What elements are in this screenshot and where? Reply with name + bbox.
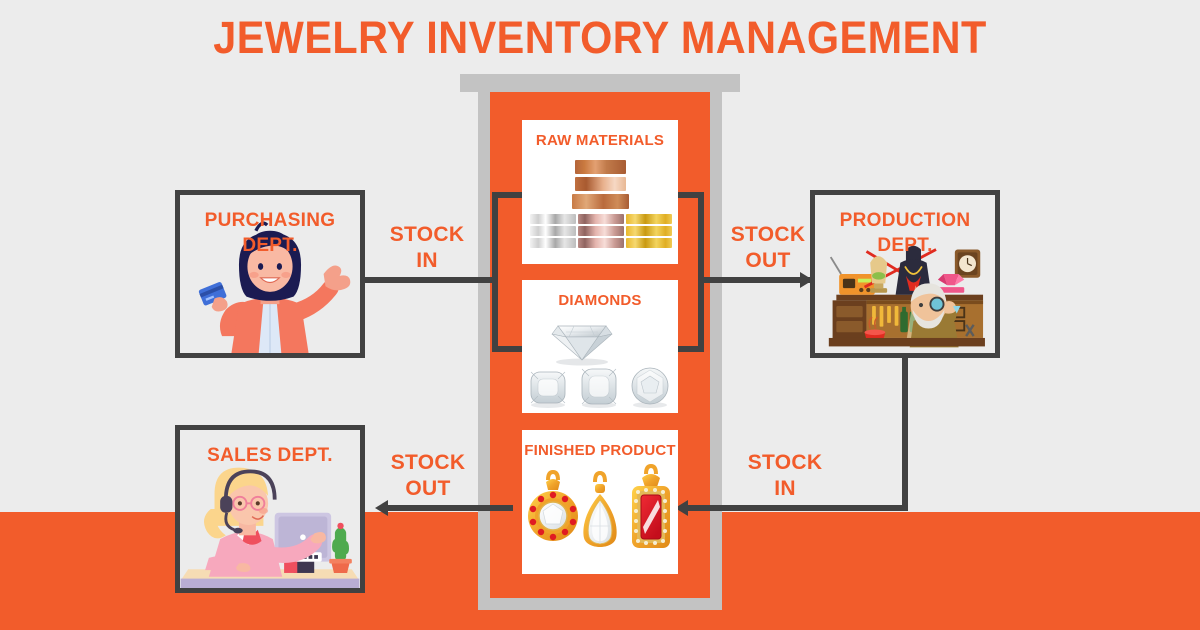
small-diamond-cushion-icon <box>531 372 565 408</box>
diamonds-svg <box>522 310 678 410</box>
cactus-icon <box>329 523 352 573</box>
pendant-teardrop-diamond-icon <box>583 473 616 547</box>
small-diamond-round-icon <box>632 368 668 408</box>
small-diamond-radiant-icon <box>582 369 616 408</box>
flow-label-line2: IN <box>774 477 796 500</box>
department-box-production[interactable]: PRODUCTION DEPT. <box>810 190 1000 358</box>
arrow-to-sales <box>375 500 388 516</box>
department-title-production: PRODUCTION DEPT. <box>815 208 995 258</box>
flow-label-stock-out-sales: STOCK OUT <box>368 450 488 502</box>
department-title-sales: SALES DEPT. <box>180 443 360 468</box>
inventory-card-finished-product[interactable]: FINISHED PRODUCT <box>522 430 678 574</box>
department-title-purchasing: PURCHASING DEPT. <box>180 208 360 258</box>
infographic-canvas: JEWELRY INVENTORY MANAGEMENT STOCK IN ST… <box>0 0 1200 630</box>
flow-label-line2: OUT <box>745 249 790 272</box>
pendant-round-ruby-icon <box>528 472 578 541</box>
radio-icon <box>831 257 875 295</box>
department-title-text: PRODUCTION DEPT. <box>840 210 971 256</box>
flow-label-line1: STOCK <box>390 223 465 246</box>
inventory-card-raw-materials[interactable]: RAW MATERIALS <box>522 120 678 264</box>
pendant-emerald-ruby-icon <box>632 466 670 548</box>
jewelers-loupe-icon <box>930 298 943 311</box>
flow-line-production-bus <box>698 192 704 352</box>
card-title-finished-product: FINISHED PRODUCT <box>524 441 676 460</box>
flow-line-production-return-horizontal <box>688 505 908 511</box>
warehouse-roof <box>460 74 740 92</box>
flow-label-stock-in-purchasing: STOCK IN <box>367 222 487 274</box>
flow-label-line1: STOCK <box>731 223 806 246</box>
department-title-text: PURCHASING DEPT. <box>205 210 336 256</box>
thumbs-up-icon <box>324 266 351 291</box>
flow-label-line1: STOCK <box>391 451 466 474</box>
flow-line-production-return-vertical <box>902 357 908 511</box>
flow-line-purchasing-bus <box>492 192 498 352</box>
inventory-card-diamonds[interactable]: DIAMONDS <box>522 280 678 413</box>
metal-bars-illustration <box>522 150 678 264</box>
page-title: JEWELRY INVENTORY MANAGEMENT <box>48 12 1152 64</box>
flow-line-to-production <box>700 277 810 283</box>
card-title-diamonds: DIAMONDS <box>558 291 641 310</box>
flow-label-line2: OUT <box>405 477 450 500</box>
department-title-text: SALES DEPT. <box>207 445 333 466</box>
flow-line-purchasing-stem <box>365 277 498 283</box>
diamond-stones-illustration <box>522 310 678 415</box>
card-title-raw-materials: RAW MATERIALS <box>536 131 664 150</box>
large-diamond-icon <box>552 326 612 360</box>
department-box-sales[interactable]: SALES DEPT. <box>175 425 365 593</box>
department-box-purchasing[interactable]: PURCHASING DEPT. <box>175 190 365 358</box>
flow-label-stock-in-production: STOCK IN <box>725 450 845 502</box>
pendants-illustration <box>522 460 678 574</box>
pendants-svg <box>522 460 678 560</box>
flow-label-line1: STOCK <box>748 451 823 474</box>
flow-label-line2: IN <box>416 249 438 272</box>
flow-line-to-sales <box>388 505 513 511</box>
